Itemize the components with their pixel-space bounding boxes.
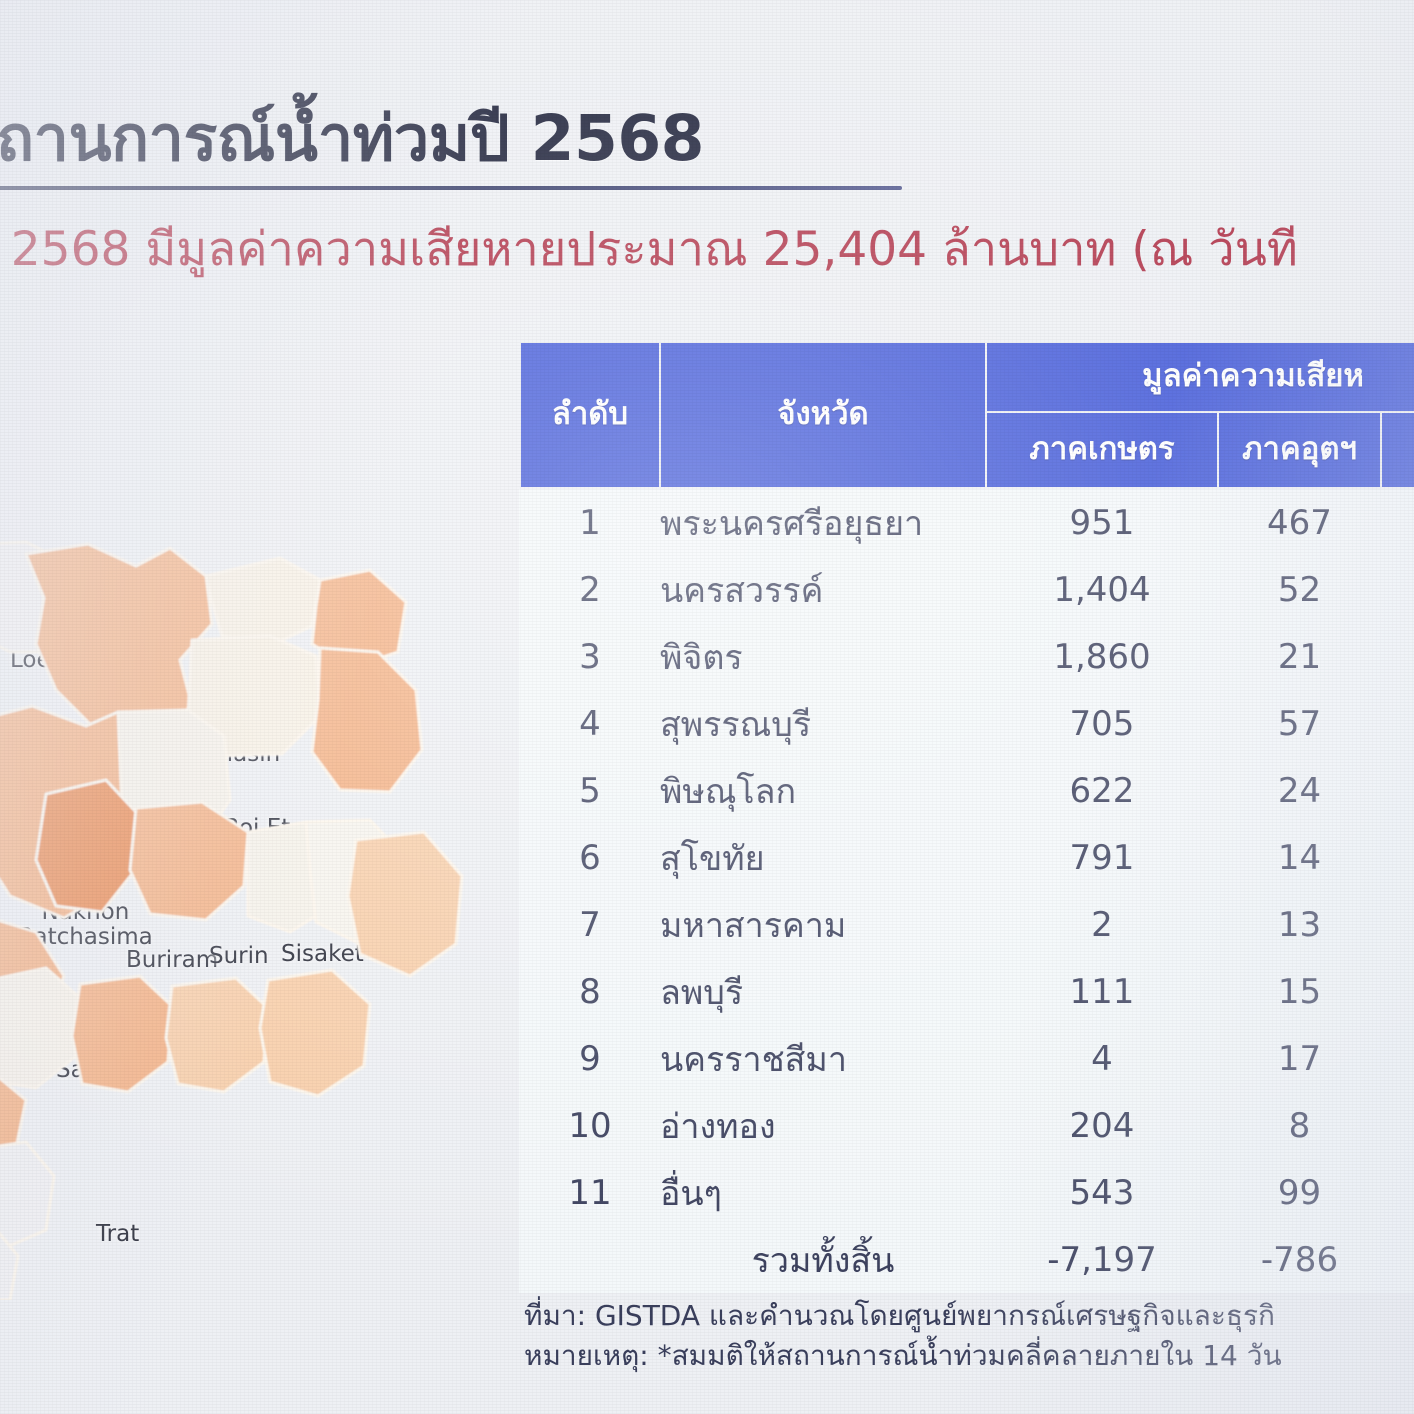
cell-no: 3 <box>520 623 660 690</box>
cell-province: นครสวรรค์ <box>660 556 986 623</box>
cell-agriculture: 951 <box>986 488 1218 556</box>
table-body: 1พระนครศรีอยุธยา9514672นครสวรรค์1,404523… <box>520 488 1414 1293</box>
cell-province: อ่างทอง <box>660 1092 986 1159</box>
column-header-cutoff <box>1381 412 1414 488</box>
cell-no: 2 <box>520 556 660 623</box>
total-cell-no <box>520 1226 660 1293</box>
cell-industry: 467 <box>1218 488 1381 556</box>
table-header-row-1: ลำดับ จังหวัด มูลค่าความเสียห <box>520 342 1414 412</box>
total-cell-label: รวมทั้งสิ้น <box>660 1226 986 1293</box>
cell-no: 11 <box>520 1159 660 1226</box>
remark-note: หมายเหตุ: *สมมติให้สถานการณ์น้ำท่วมคลี่ค… <box>524 1336 1414 1376</box>
cell-industry: 8 <box>1218 1092 1381 1159</box>
table-head: ลำดับ จังหวัด มูลค่าความเสียห ภาคเกษตร ภ… <box>520 342 1414 488</box>
table-total-row: รวมทั้งสิ้น-7,197-786 <box>520 1226 1414 1293</box>
cell-no: 10 <box>520 1092 660 1159</box>
cell-agriculture: 2 <box>986 891 1218 958</box>
table-row[interactable]: 7มหาสารคาม213 <box>520 891 1414 958</box>
column-header-province[interactable]: จังหวัด <box>660 342 986 488</box>
cell-agriculture: 622 <box>986 757 1218 824</box>
cell-agriculture: 705 <box>986 690 1218 757</box>
cell-province: มหาสารคาม <box>660 891 986 958</box>
title-underline <box>0 186 902 190</box>
total-cell-industry: -786 <box>1218 1226 1381 1293</box>
source-note: ที่มา: GISTDA และคำนวณโดยศูนย์พยากรณ์เศร… <box>524 1296 1414 1336</box>
flood-damage-table: ลำดับ จังหวัด มูลค่าความเสียห ภาคเกษตร ภ… <box>519 341 1414 1293</box>
cell-no: 9 <box>520 1025 660 1092</box>
table-row[interactable]: 4สุพรรณบุรี70557 <box>520 690 1414 757</box>
cell-agriculture: 543 <box>986 1159 1218 1226</box>
cell-no: 8 <box>520 958 660 1025</box>
cell-province: นครราชสีมา <box>660 1025 986 1092</box>
cell-no: 1 <box>520 488 660 556</box>
footnotes: ที่มา: GISTDA และคำนวณโดยศูนย์พยากรณ์เศร… <box>524 1296 1414 1376</box>
cell-industry: 21 <box>1218 623 1381 690</box>
damage-table-container: ลำดับ จังหวัด มูลค่าความเสียห ภาคเกษตร ภ… <box>519 341 1414 1293</box>
cell-agriculture: 791 <box>986 824 1218 891</box>
cell-cutoff <box>1381 824 1414 891</box>
column-header-industry[interactable]: ภาคอุตฯ <box>1218 412 1381 488</box>
cell-agriculture: 1,404 <box>986 556 1218 623</box>
cell-province: พิจิตร <box>660 623 986 690</box>
total-cell-agriculture: -7,197 <box>986 1226 1218 1293</box>
table-row[interactable]: 8ลพบุรี11115 <box>520 958 1414 1025</box>
cell-province: อื่นๆ <box>660 1159 986 1226</box>
table-row[interactable]: 5พิษณุโลก62224 <box>520 757 1414 824</box>
cell-cutoff <box>1381 757 1414 824</box>
table-row[interactable]: 2นครสวรรค์1,40452 <box>520 556 1414 623</box>
cell-cutoff <box>1381 556 1414 623</box>
cell-cutoff <box>1381 623 1414 690</box>
cell-industry: 99 <box>1218 1159 1381 1226</box>
table-row[interactable]: 1พระนครศรีอยุธยา951467 <box>520 488 1414 556</box>
cell-province: พิษณุโลก <box>660 757 986 824</box>
total-cell-cutoff <box>1381 1226 1414 1293</box>
cell-no: 7 <box>520 891 660 958</box>
table-row[interactable]: 3พิจิตร1,86021 <box>520 623 1414 690</box>
cell-cutoff <box>1381 891 1414 958</box>
cell-province: สุโขทัย <box>660 824 986 891</box>
cell-industry: 14 <box>1218 824 1381 891</box>
table-row[interactable]: 6สุโขทัย79114 <box>520 824 1414 891</box>
table-row[interactable]: 9นครราชสีมา417 <box>520 1025 1414 1092</box>
cell-industry: 13 <box>1218 891 1381 958</box>
cell-agriculture: 4 <box>986 1025 1218 1092</box>
cell-industry: 24 <box>1218 757 1381 824</box>
cell-cutoff <box>1381 958 1414 1025</box>
cell-agriculture: 111 <box>986 958 1218 1025</box>
cell-province: พระนครศรีอยุธยา <box>660 488 986 556</box>
cell-cutoff <box>1381 1159 1414 1226</box>
cell-industry: 17 <box>1218 1025 1381 1092</box>
cell-cutoff <box>1381 690 1414 757</box>
table-row[interactable]: 11อื่นๆ54399 <box>520 1159 1414 1226</box>
cell-no: 5 <box>520 757 660 824</box>
cell-industry: 52 <box>1218 556 1381 623</box>
cell-cutoff <box>1381 488 1414 556</box>
cell-cutoff <box>1381 1025 1414 1092</box>
page-title: สถานการณ์น้ำท่วมปี 2568 <box>0 104 1058 175</box>
cell-cutoff <box>1381 1092 1414 1159</box>
thailand-choropleth-map <box>0 540 490 1300</box>
table-row[interactable]: 10อ่างทอง2048 <box>520 1092 1414 1159</box>
column-header-group-damage-value: มูลค่าความเสียห <box>986 342 1414 412</box>
cell-no: 6 <box>520 824 660 891</box>
cell-industry: 57 <box>1218 690 1381 757</box>
page-subtitle: ปี 2568 มีมูลค่าความเสียหายประมาณ 25,404… <box>0 222 1414 277</box>
cell-no: 4 <box>520 690 660 757</box>
cell-agriculture: 1,860 <box>986 623 1218 690</box>
cell-province: สุพรรณบุรี <box>660 690 986 757</box>
cell-province: ลพบุรี <box>660 958 986 1025</box>
cell-agriculture: 204 <box>986 1092 1218 1159</box>
column-header-no[interactable]: ลำดับ <box>520 342 660 488</box>
cell-industry: 15 <box>1218 958 1381 1025</box>
column-header-agriculture[interactable]: ภาคเกษตร <box>986 412 1218 488</box>
